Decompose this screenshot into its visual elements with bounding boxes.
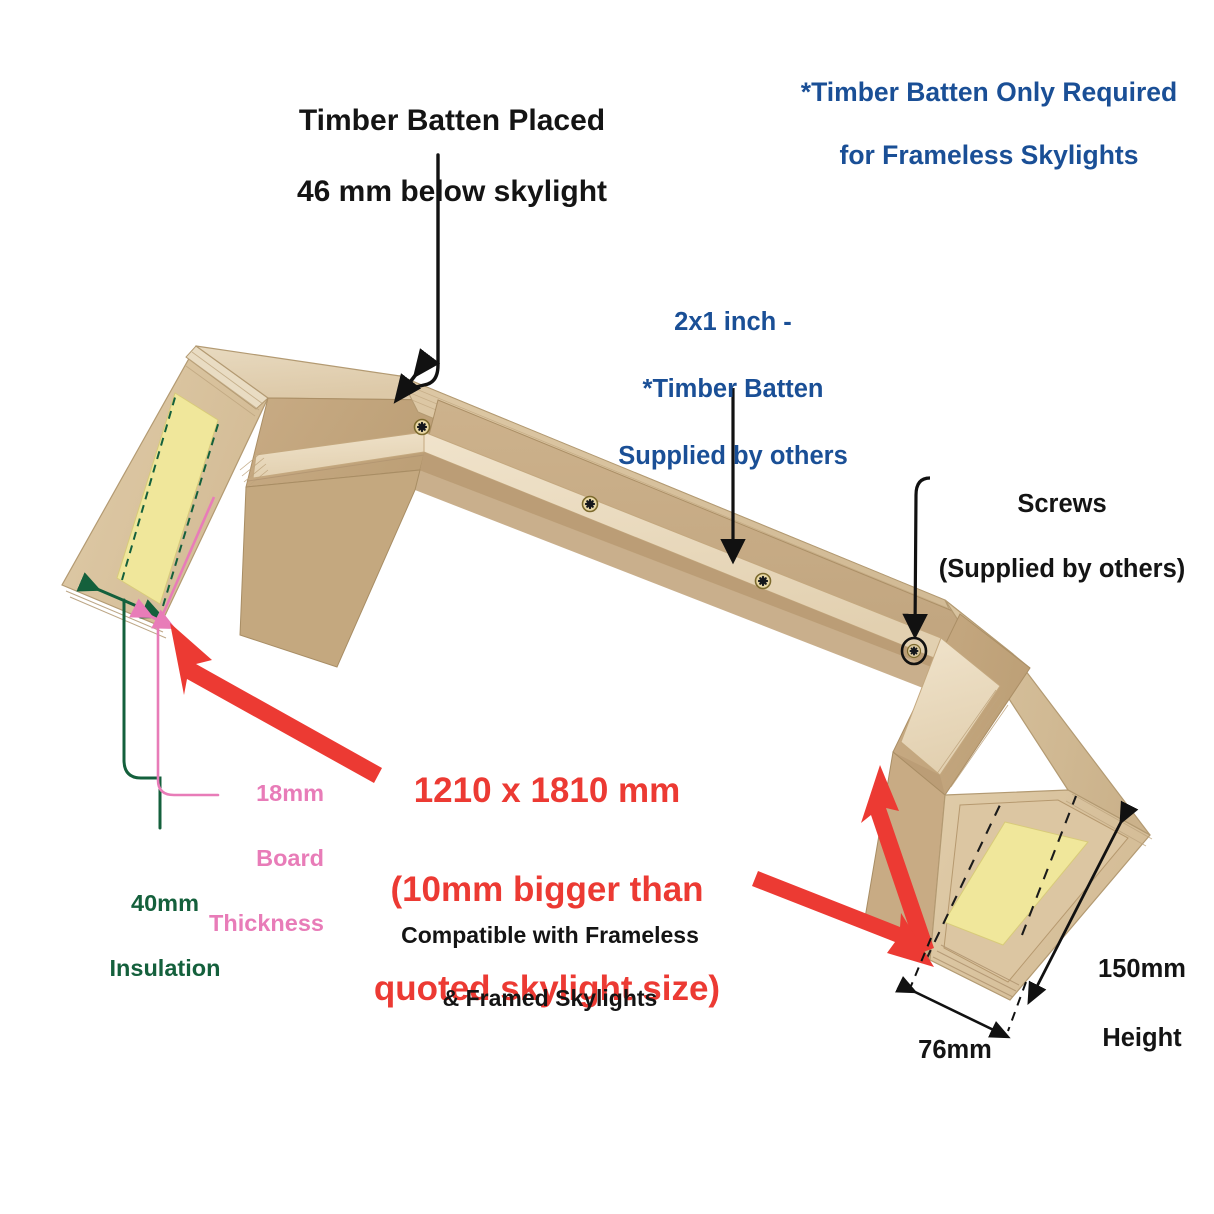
insulation-line2: Insulation bbox=[90, 952, 240, 984]
height-dimension-label: 150mm Height bbox=[1072, 918, 1212, 1090]
width-dimension-label: 76mm bbox=[890, 1005, 1020, 1095]
frameless-note-line1: *Timber Batten Only Required bbox=[764, 77, 1214, 108]
height-dimension-line1: 150mm bbox=[1072, 952, 1212, 986]
batten-spec-line3: Supplied by others bbox=[588, 440, 878, 474]
compatibility-line2: & Framed Skylights bbox=[375, 983, 725, 1015]
height-dimension-line2: Height bbox=[1072, 1021, 1212, 1055]
screws-label: Screws (Supplied by others) bbox=[912, 455, 1212, 618]
frameless-note-line2: for Frameless Skylights bbox=[764, 140, 1214, 171]
arrow-icon-gap-double bbox=[398, 373, 417, 398]
frameless-note-label: *Timber Batten Only Required for Framele… bbox=[764, 46, 1214, 202]
batten-spec-line2: *Timber Batten bbox=[588, 373, 878, 407]
batten-spec-line1: 2x1 inch - bbox=[588, 306, 878, 340]
width-dimension-value: 76mm bbox=[890, 1035, 1020, 1065]
timber-batten-placed-label: Timber Batten Placed 46 mm below skyligh… bbox=[252, 68, 652, 245]
compatibility-line1: Compatible with Frameless bbox=[375, 920, 725, 952]
screws-line2: (Supplied by others) bbox=[912, 553, 1212, 586]
insulation-label: 40mm Insulation bbox=[90, 855, 240, 1017]
insulation-line1: 40mm bbox=[90, 887, 240, 919]
timber-batten-placed-line2: 46 mm below skylight bbox=[252, 174, 652, 209]
screws-line1: Screws bbox=[912, 488, 1212, 521]
compatibility-label: Compatible with Frameless & Framed Skyli… bbox=[375, 888, 725, 1047]
size-callout-line1: 1210 x 1810 mm bbox=[322, 766, 772, 816]
timber-batten-placed-line1: Timber Batten Placed bbox=[252, 103, 652, 138]
board-thickness-line1: 18mm bbox=[132, 777, 324, 809]
batten-spec-label: 2x1 inch - *Timber Batten Supplied by ot… bbox=[588, 272, 878, 508]
diagram-canvas: Timber Batten Placed 46 mm below skyligh… bbox=[0, 0, 1214, 1214]
